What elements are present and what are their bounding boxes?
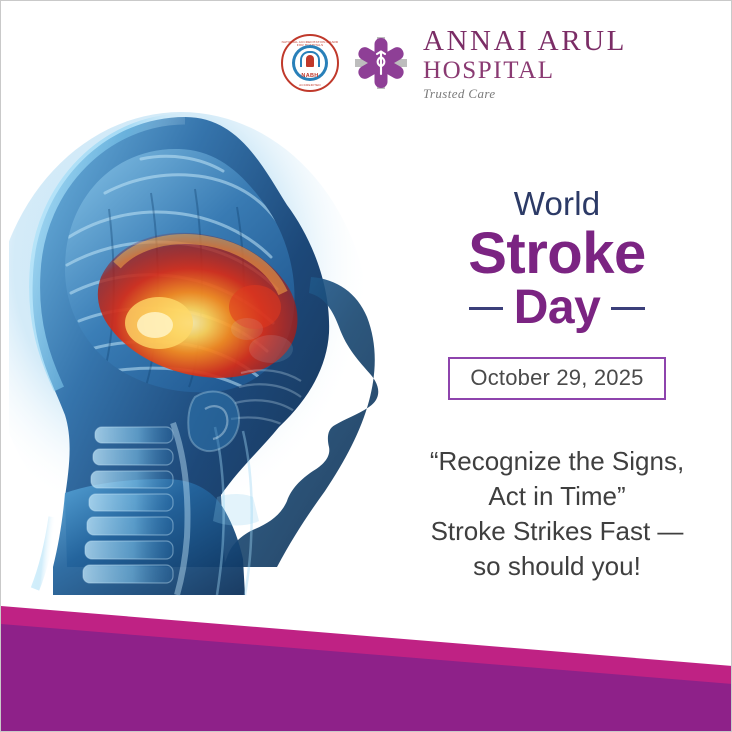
title-day-row: Day: [401, 283, 713, 333]
orbit-cavity: [231, 318, 263, 340]
tagline-plain-line-2: so should you!: [401, 549, 713, 584]
sinus-cavity: [249, 335, 293, 363]
brand-text-block: ANNAI ARUL HOSPITAL Trusted Care: [423, 27, 627, 100]
vertebra: [95, 427, 173, 443]
vertebra: [83, 565, 173, 583]
brand-name-line-2: HOSPITAL: [423, 57, 627, 85]
seal-abbreviation: NABH: [281, 74, 339, 80]
vertebra: [89, 494, 173, 511]
stroke-brain-head-illustration: [9, 97, 425, 597]
tagline-block: “Recognize the Signs, Act in Time” Strok…: [401, 444, 713, 583]
vertebra: [85, 541, 173, 559]
brand-name-line-1: ANNAI ARUL: [423, 27, 627, 57]
tagline-plain-line-1: Stroke Strikes Fast —: [401, 514, 713, 549]
title-line-day: Day: [514, 283, 601, 333]
nabh-seal-icon: NATIONAL ACCREDITATION BOARD FOR HOSPITA…: [281, 34, 339, 92]
neck-rim-light: [35, 517, 53, 589]
title-rule-right: [611, 307, 645, 310]
seal-building-glyph: [300, 51, 320, 68]
tagline-quote-line-1: “Recognize the Signs,: [401, 444, 713, 479]
title-line-stroke: Stroke: [401, 224, 713, 285]
poster-canvas: NATIONAL ACCREDITATION BOARD FOR HOSPITA…: [0, 0, 732, 732]
bottom-decorative-bands: [1, 586, 732, 731]
title-line-world: World: [401, 187, 713, 220]
seal-ring-text-bottom: ACCREDITED: [281, 84, 339, 87]
vertebra: [87, 517, 173, 535]
title-rule-left: [469, 307, 503, 310]
larynx: [213, 494, 259, 526]
seal-flame-shape: [306, 55, 314, 67]
brand-tagline: Trusted Care: [423, 87, 627, 100]
tagline-quote-line-2: Act in Time”: [401, 479, 713, 514]
stroke-hotspot-center: [137, 312, 173, 338]
date-badge: October 29, 2025: [448, 357, 665, 400]
star-of-life-icon: [353, 35, 409, 91]
vertebra: [93, 449, 173, 465]
poster-text-column: World Stroke Day October 29, 2025 “Recog…: [401, 187, 713, 584]
vertebra: [91, 471, 173, 488]
hospital-logo-bar: NATIONAL ACCREDITATION BOARD FOR HOSPITA…: [281, 27, 627, 100]
